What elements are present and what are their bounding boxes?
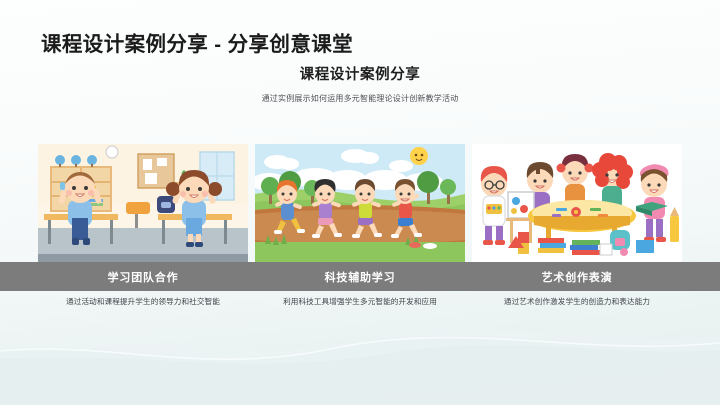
card-heading-band: 学习团队合作 科技辅助学习 艺术创作表演 [0, 262, 720, 291]
card-image-children-art-and-craft-table [472, 144, 682, 262]
card-heading-1: 学习团队合作 [38, 262, 248, 291]
illustration-row [38, 144, 682, 262]
page-title: 课程设计案例分享 - 分享创意课堂 [41, 27, 353, 57]
card-image-classroom-children-raising-hands [38, 144, 248, 262]
slide-canvas: 课程设计案例分享 - 分享创意课堂 课程设计案例分享 通过实例展示如何运用多元智… [0, 0, 720, 405]
card-caption-row: 通过活动和课程提升学生的领导力和社交智能 利用科技工具增强学生多元智能的开发和应… [38, 296, 682, 307]
card-heading-2: 科技辅助学习 [255, 262, 465, 291]
card-image-children-running-outdoors [255, 144, 465, 262]
card-caption-1: 通过活动和课程提升学生的领导力和社交智能 [38, 296, 248, 307]
section-subtitle: 通过实例展示如何运用多元智能理论设计创新教学活动 [0, 93, 720, 104]
card-caption-2: 利用科技工具增强学生多元智能的开发和应用 [255, 296, 465, 307]
card-heading-3: 艺术创作表演 [472, 262, 682, 291]
background-wave-front [0, 309, 720, 405]
card-heading-row: 学习团队合作 科技辅助学习 艺术创作表演 [38, 262, 682, 291]
card-caption-3: 通过艺术创作激发学生的创造力和表达能力 [472, 296, 682, 307]
section-title: 课程设计案例分享 [0, 63, 720, 84]
